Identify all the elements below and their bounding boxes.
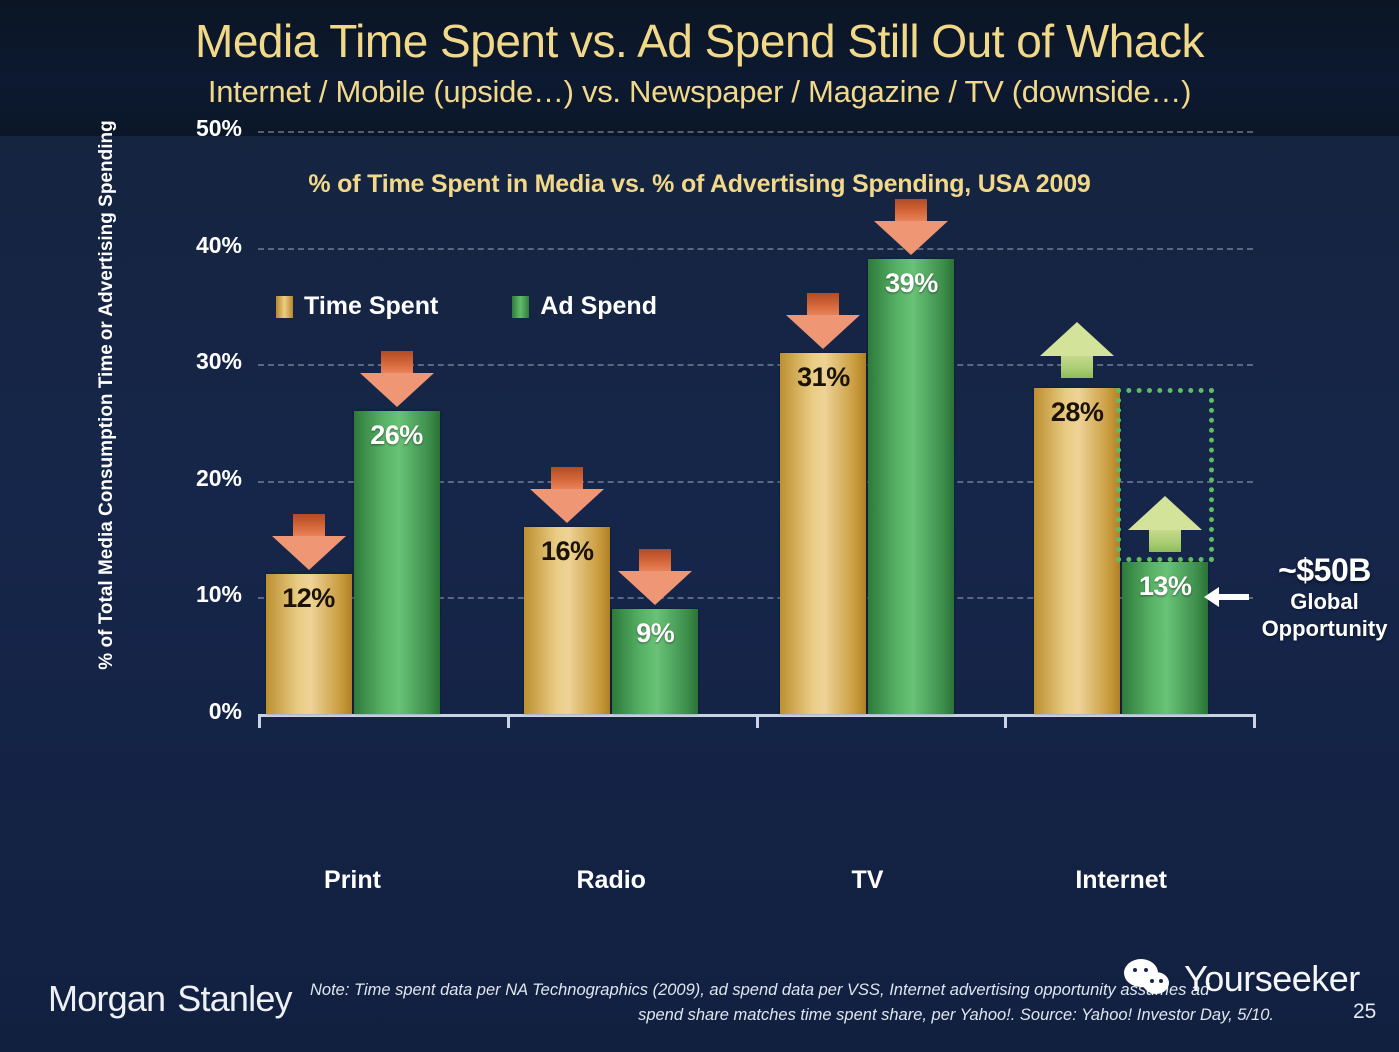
gridline — [258, 131, 1253, 133]
bar-print-time-spent: 12% — [266, 574, 352, 714]
bar-internet-ad-spend: 13% — [1122, 562, 1208, 714]
x-axis-label-print: Print — [243, 866, 463, 895]
y-axis-tick-label: 0% — [152, 698, 242, 725]
legend-item-ad-spend[interactable]: Ad Spend — [512, 292, 657, 321]
chart-legend: Time Spent Ad Spend — [276, 292, 657, 321]
bar-value-label: 39% — [868, 268, 954, 299]
legend-label-ad-spend: Ad Spend — [540, 292, 657, 321]
x-axis-tick — [1004, 714, 1007, 728]
arrow-down-icon-radio-time-spent — [530, 467, 604, 523]
source-note-line-1: Note: Time spent data per NA Technograph… — [310, 978, 1320, 1003]
callout-line-1: Global — [1250, 588, 1399, 615]
source-note: Note: Time spent data per NA Technograph… — [310, 978, 1320, 1028]
callout-line-2: Opportunity — [1250, 615, 1399, 642]
callout-arrow-icon — [1203, 586, 1249, 608]
bar-tv-ad-spend: 39% — [868, 259, 954, 714]
brand-word-first: Morgan — [48, 978, 165, 1019]
brand-word-second: Stanley — [177, 978, 291, 1019]
legend-swatch-icon-time-spent — [276, 296, 293, 318]
arrow-down-icon-print-time-spent — [272, 514, 346, 570]
x-axis-label-tv: TV — [757, 866, 977, 895]
x-axis-label-radio: Radio — [501, 866, 721, 895]
y-axis-title-line-2: or Advertising Spending — [94, 120, 120, 340]
x-axis-tick — [258, 714, 261, 728]
morgan-stanley-logo: Morgan Stanley — [48, 978, 292, 1020]
opportunity-gap-box — [1116, 388, 1214, 563]
arrow-down-icon-radio-ad-spend — [618, 549, 692, 605]
legend-item-time-spent[interactable]: Time Spent — [276, 292, 438, 321]
bar-print-ad-spend: 26% — [354, 411, 440, 714]
y-axis-tick-label: 20% — [152, 465, 242, 492]
bar-value-label: 31% — [780, 362, 866, 393]
bar-radio-ad-spend: 9% — [612, 609, 698, 714]
x-axis-tick — [1253, 714, 1256, 728]
y-axis-tick-label: 50% — [152, 115, 242, 142]
page-title: Media Time Spent vs. Ad Spend Still Out … — [0, 14, 1399, 68]
bar-value-label: 13% — [1122, 571, 1208, 602]
arrow-up-icon-internet-time-spent — [1040, 322, 1114, 378]
x-axis-tick — [507, 714, 510, 728]
bar-value-label: 9% — [612, 618, 698, 649]
x-axis-label-internet: Internet — [1011, 866, 1231, 895]
bar-value-label: 28% — [1034, 397, 1120, 428]
legend-label-time-spent: Time Spent — [304, 292, 438, 321]
y-axis-title: or Advertising Spending % of Total Media… — [77, 180, 137, 610]
legend-swatch-icon-ad-spend — [512, 296, 529, 318]
bar-radio-time-spent: 16% — [524, 527, 610, 714]
opportunity-callout: ~$50B Global Opportunity — [1250, 552, 1399, 642]
callout-amount: ~$50B — [1250, 552, 1399, 588]
y-axis-tick-label: 10% — [152, 581, 242, 608]
gridline — [258, 248, 1253, 250]
source-note-line-2: spend share matches time spent share, pe… — [310, 1003, 1320, 1028]
x-axis-tick — [756, 714, 759, 728]
y-axis-tick-label: 30% — [152, 348, 242, 375]
chart-title: % of Time Spent in Media vs. % of Advert… — [0, 170, 1399, 199]
arrow-down-icon-tv-ad-spend — [874, 199, 948, 255]
bar-internet-time-spent: 28% — [1034, 388, 1120, 714]
bar-value-label: 16% — [524, 536, 610, 567]
bar-tv-time-spent: 31% — [780, 353, 866, 714]
y-axis-tick-label: 40% — [152, 232, 242, 259]
bar-value-label: 26% — [354, 420, 440, 451]
page-subtitle: Internet / Mobile (upside…) vs. Newspape… — [0, 74, 1399, 110]
arrow-down-icon-tv-time-spent — [786, 293, 860, 349]
y-axis-title-line-1: % of Total Media Consumption Time — [94, 344, 120, 669]
bar-value-label: 12% — [266, 583, 352, 614]
arrow-down-icon-print-ad-spend — [360, 351, 434, 407]
page-number: 25 — [1353, 1000, 1376, 1024]
